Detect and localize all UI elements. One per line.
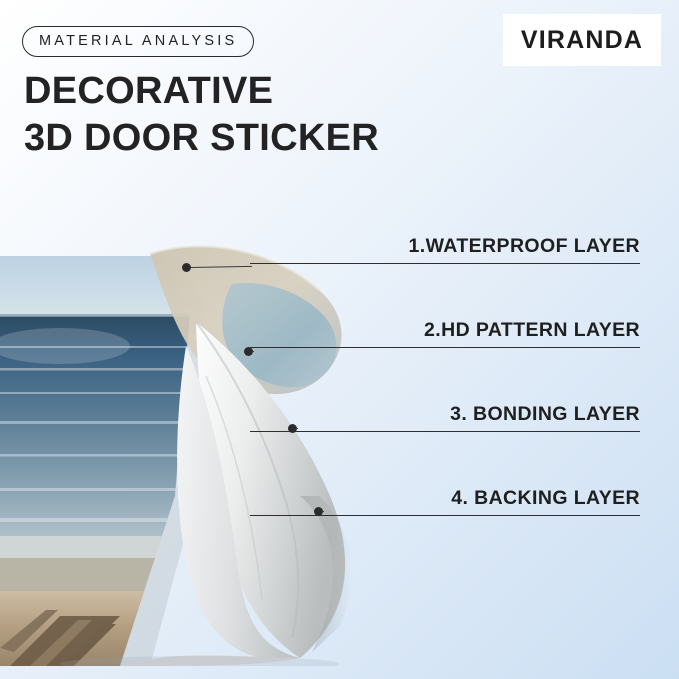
callout-label: 3. BONDING LAYER [450,403,640,426]
callout-label: 4. BACKING LAYER [451,487,640,510]
callout-bonding-layer: 3. BONDING LAYER [250,398,640,432]
leader-line-backing [322,511,324,512]
callout-backing-layer: 4. BACKING LAYER [250,482,640,516]
eyebrow-badge: MATERIAL ANALYSIS [22,26,254,57]
leader-line-bonding [296,428,298,429]
leader-line-hd-pattern [252,351,254,352]
poster: MATERIAL ANALYSIS DECORATIVE 3D DOOR STI… [0,0,679,679]
callout-rule [250,263,640,264]
callout-label: 2.HD PATTERN LAYER [424,319,640,342]
title-line-1: DECORATIVE [24,68,379,115]
callout-label: 1.WATERPROOF LAYER [409,235,640,258]
printed-photo [0,246,200,666]
callout-rule [250,431,640,432]
title-line-2: 3D DOOR STICKER [24,115,379,162]
callout-waterproof-layer: 1.WATERPROOF LAYER [250,230,640,264]
brand-name: VIRANDA [521,26,643,55]
brand-logo-box: VIRANDA [503,14,661,66]
callout-rule [250,515,640,516]
page-title: DECORATIVE 3D DOOR STICKER [24,68,379,161]
callout-hd-pattern-layer: 2.HD PATTERN LAYER [250,314,640,348]
callout-rule [250,347,640,348]
